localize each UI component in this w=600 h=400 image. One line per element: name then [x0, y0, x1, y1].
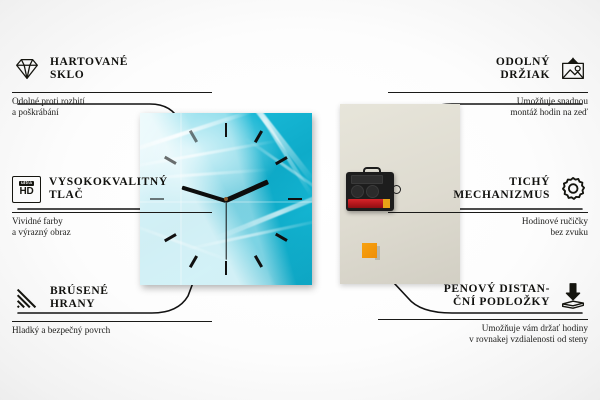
feature-subtitle: Vividné farby a výrazný obraz [12, 216, 212, 239]
feature-sub-line1: Vividné farby [12, 216, 63, 226]
foam-spacer-pad [362, 243, 381, 260]
feature-divider [388, 92, 588, 93]
feature-title: VYSOKOKVALITNÝ TLAČ [49, 176, 168, 203]
feature-title-line2: DRŽIAK [500, 69, 550, 81]
movement-label [351, 175, 383, 184]
feature-title-line2: MECHANIZMUS [453, 189, 550, 201]
feature-sub-line2: montáž hodin na zeď [510, 107, 588, 117]
feature-sub-line2: a výrazný obraz [12, 227, 71, 237]
second-hand [225, 200, 226, 260]
feature-title-line2: SKLO [50, 69, 84, 81]
feature-title-line2: TLAČ [49, 189, 83, 201]
feature-title-line1: HARTOVANÉ [50, 56, 128, 68]
hour-tick [225, 123, 228, 137]
feature-subtitle: Umožňuje vám držať hodiny v rovnakej vzd… [378, 323, 588, 346]
feature-sub-line1: Odolné proti rozbití [12, 96, 85, 106]
clock-movement [346, 167, 394, 211]
hour-tick [254, 130, 263, 143]
feature-silent-mechanism: TICHÝ MECHANIZMUS Hodinové ručičky bez z… [388, 168, 588, 239]
feature-sub-line2: a poškrábání [12, 107, 59, 117]
feature-header: HARTOVANÉ SKLO [12, 48, 212, 90]
picture-hanger-icon [558, 54, 588, 84]
feature-header: PENOVÝ DISTAN- ČNÍ PODLOŽKY [378, 275, 588, 317]
beveled-edges-icon [12, 283, 42, 313]
clock-hub [224, 197, 228, 201]
feature-divider [12, 212, 212, 213]
product-infographic: HARTOVANÉ SKLO Odolné proti rozbití a po… [0, 0, 600, 400]
foam-spacer-top [362, 243, 377, 258]
feather-streak [140, 113, 257, 158]
feature-subtitle: Odolné proti rozbití a poškrábání [12, 96, 212, 119]
feature-title-line2: HRANY [50, 298, 95, 310]
feature-title-line2: ČNÍ PODLOŽKY [453, 296, 550, 308]
feature-ground-edges: BRÚSENÉ HRANY Hladký a bezpečný povrch [12, 277, 212, 336]
hour-tick [275, 233, 288, 242]
battery [348, 199, 390, 208]
feature-header: BRÚSENÉ HRANY [12, 277, 212, 319]
feature-title: ODOLNÝ DRŽIAK [496, 56, 550, 83]
hour-tick [225, 261, 228, 275]
hour-tick [189, 255, 198, 268]
movement-dial [366, 185, 379, 198]
feature-subtitle: Umožňuje snadnou montáž hodin na zeď [388, 96, 588, 119]
feature-divider [388, 212, 588, 213]
feather-streak [140, 139, 279, 170]
feature-title-line1: PENOVÝ DISTAN- [444, 283, 550, 295]
feature-title-line1: TICHÝ [509, 176, 550, 188]
feature-high-quality-print: ultra HD VYSOKOKVALITNÝ TLAČ Vividné far… [12, 168, 212, 239]
feature-durable-holder: ODOLNÝ DRŽIAK Umožňuje snadnou montáž ho… [388, 48, 588, 119]
feature-header: ultra HD VYSOKOKVALITNÝ TLAČ [12, 168, 212, 210]
feature-sub-line1: Umožňuje vám držať hodiny [482, 323, 588, 333]
feature-header: ODOLNÝ DRŽIAK [388, 48, 588, 90]
feature-divider [378, 319, 588, 320]
down-arrow-pad-icon [558, 281, 588, 311]
feature-title-line1: BRÚSENÉ [50, 285, 109, 297]
gear-icon [558, 174, 588, 204]
ultra-hd-icon: ultra HD [12, 176, 41, 203]
feature-sub-line1: Hodinové ručičky [522, 216, 588, 226]
feature-divider [12, 321, 212, 322]
feature-sub-line1: Umožňuje snadnou [517, 96, 588, 106]
feature-sub-line2: v rovnakej vzdialenosti od steny [469, 334, 588, 344]
feature-title: PENOVÝ DISTAN- ČNÍ PODLOŽKY [444, 283, 550, 310]
ultra-hd-icon-big-label: HD [19, 187, 33, 197]
feature-title: HARTOVANÉ SKLO [50, 56, 128, 83]
feature-sub-line2: bez zvuku [551, 227, 589, 237]
hour-hand [225, 180, 269, 203]
feature-subtitle: Hodinové ručičky bez zvuku [388, 216, 588, 239]
feature-divider [12, 92, 212, 93]
feature-header: TICHÝ MECHANIZMUS [388, 168, 588, 210]
movement-dial [351, 185, 364, 198]
feature-title-line1: ODOLNÝ [496, 56, 550, 68]
movement-body [346, 172, 394, 211]
diamond-icon [12, 54, 42, 84]
feature-tempered-glass: HARTOVANÉ SKLO Odolné proti rozbití a po… [12, 48, 212, 119]
hour-tick [288, 198, 302, 201]
feature-sub-line1: Hladký a bezpečný povrch [12, 325, 110, 335]
hour-tick [254, 255, 263, 268]
feature-title: TICHÝ MECHANIZMUS [453, 176, 550, 203]
feature-title: BRÚSENÉ HRANY [50, 285, 109, 312]
feature-foam-spacers: PENOVÝ DISTAN- ČNÍ PODLOŽKY Umožňuje vám… [378, 275, 588, 346]
feature-subtitle: Hladký a bezpečný povrch [12, 325, 212, 336]
feature-title-line1: VYSOKOKVALITNÝ [49, 176, 168, 188]
